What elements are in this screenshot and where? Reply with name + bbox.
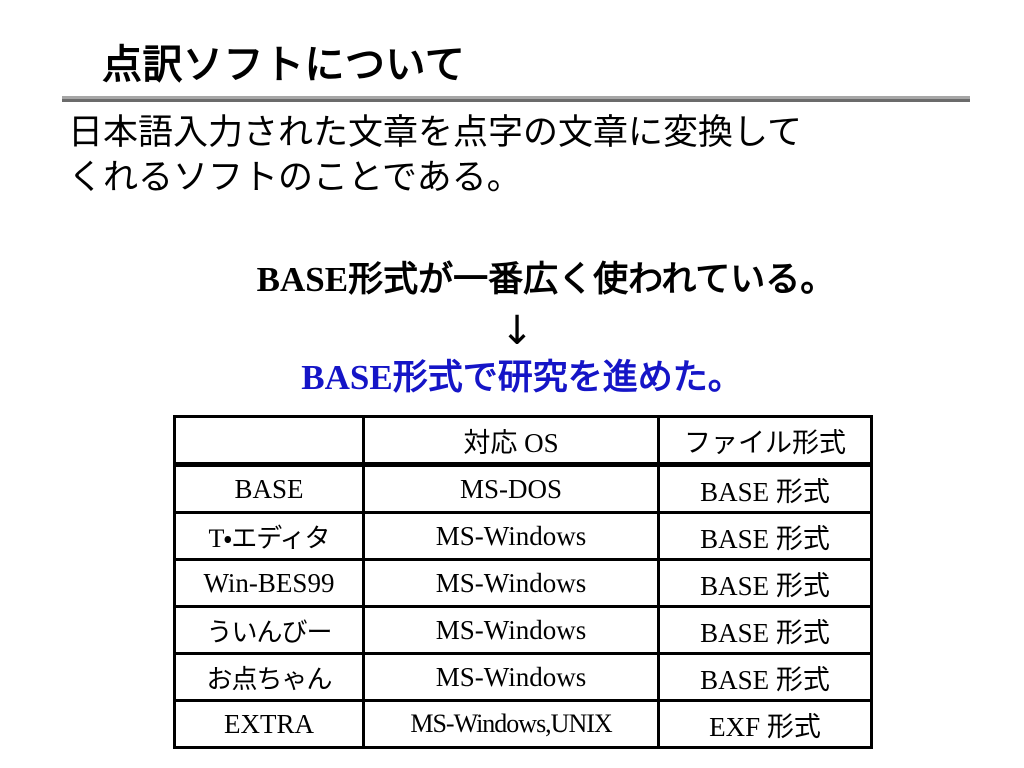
table-row: BASE MS-DOS BASE 形式: [175, 465, 872, 513]
page-title: 点訳ソフトについて: [102, 40, 465, 90]
table-row: お点ちゃん MS-Windows BASE 形式: [175, 654, 872, 701]
statement-primary: BASE形式が一番広く使われている。: [0, 258, 1024, 302]
table-row: EXTRA MS-Windows,UNIX EXF 形式: [175, 701, 872, 748]
statement-conclusion: BASE形式で研究を進めた。: [0, 356, 1024, 400]
table-row: ういんびー MS-Windows BASE 形式: [175, 607, 872, 654]
table-cell-software: お点ちゃん: [175, 654, 364, 701]
table-header-cell-blank: [175, 417, 364, 465]
down-arrow-icon: ↓: [0, 308, 1024, 354]
table-row: T・エディタ MS-Windows BASE 形式: [175, 513, 872, 560]
table-cell-format: BASE 形式: [659, 654, 872, 701]
table-cell-software: BASE: [175, 465, 364, 513]
body-line-2: くれるソフトのことである。: [68, 155, 968, 200]
table-cell-os: MS-Windows: [364, 560, 659, 607]
title-divider-shadow: [62, 99, 970, 102]
table-cell-format: BASE 形式: [659, 465, 872, 513]
title-divider: [62, 96, 970, 102]
table-cell-os: MS-Windows: [364, 654, 659, 701]
table-cell-software: T・エディタ: [175, 513, 364, 560]
table-cell-format: BASE 形式: [659, 513, 872, 560]
table-row: Win-BES99 MS-Windows BASE 形式: [175, 560, 872, 607]
slide-canvas: 点訳ソフトについて 日本語入力された文章を点字の文章に変換して くれるソフトのこ…: [0, 0, 1024, 768]
table-cell-format: BASE 形式: [659, 560, 872, 607]
table-cell-format: EXF 形式: [659, 701, 872, 748]
table-cell-os: MS-Windows: [364, 607, 659, 654]
table-cell-os: MS-Windows: [364, 513, 659, 560]
table-cell-os: MS-Windows,UNIX: [364, 701, 659, 748]
table-header-row: 対応 OS ファイル形式: [175, 417, 872, 465]
table-cell-software: ういんびー: [175, 607, 364, 654]
table-header-cell-os: 対応 OS: [364, 417, 659, 465]
body-line-1: 日本語入力された文章を点字の文章に変換して: [68, 110, 968, 155]
table-header-cell-format: ファイル形式: [659, 417, 872, 465]
braille-software-table: 対応 OS ファイル形式 BASE MS-DOS BASE 形式 T・エディタ …: [173, 415, 873, 749]
table-cell-software: Win-BES99: [175, 560, 364, 607]
body-paragraph: 日本語入力された文章を点字の文章に変換して くれるソフトのことである。: [68, 110, 968, 200]
table-cell-software: EXTRA: [175, 701, 364, 748]
table-cell-format: BASE 形式: [659, 607, 872, 654]
table-cell-os: MS-DOS: [364, 465, 659, 513]
